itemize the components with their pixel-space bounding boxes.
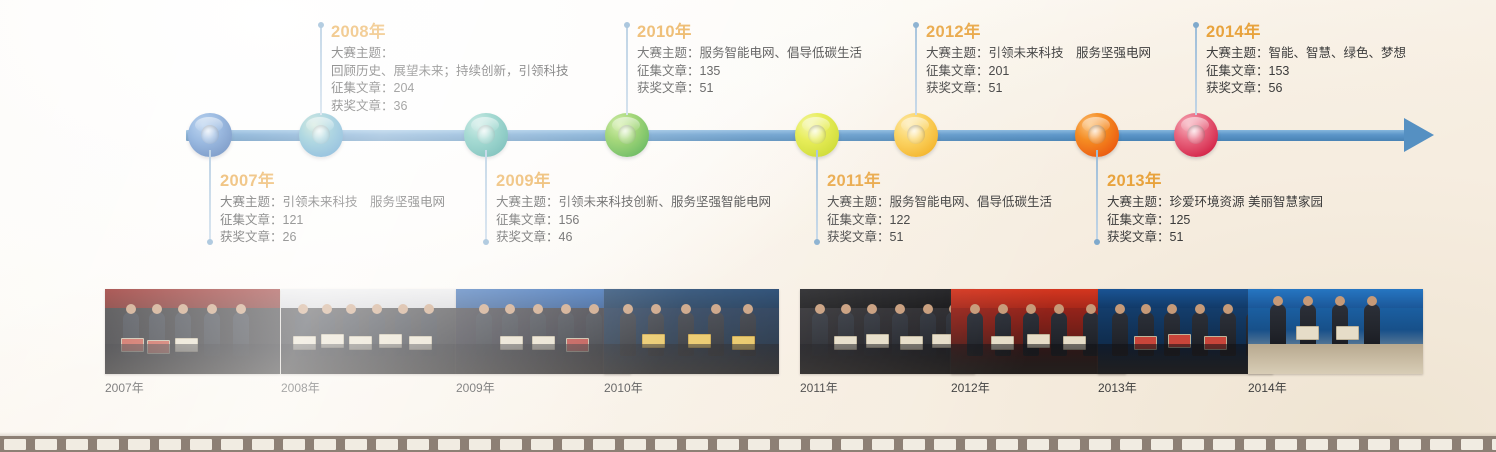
filmstrip-hole: [221, 439, 243, 450]
filmstrip-hole: [1430, 439, 1452, 450]
photo-banner: [1098, 289, 1273, 308]
filmstrip-hole: [779, 439, 801, 450]
entry-year: 2007年: [220, 171, 445, 192]
filmstrip-hole: [841, 439, 863, 450]
gallery-caption-2013: 2013年: [1098, 379, 1137, 396]
gallery-caption-2010: 2010年: [604, 379, 643, 396]
photo-floor: [604, 344, 779, 374]
entry-submissions: 征集文章：121: [220, 212, 445, 230]
entry-year: 2013年: [1107, 171, 1323, 192]
entry-theme: 大赛主题：服务智能电网、倡导低碳生活: [637, 45, 862, 63]
connector-dot: [1193, 22, 1199, 28]
gallery-caption-2008: 2008年: [281, 379, 320, 396]
filmstrip-hole: [252, 439, 274, 450]
filmstrip-hole: [1120, 439, 1142, 450]
filmstrip-hole: [1368, 439, 1390, 450]
entry-year: 2009年: [496, 171, 771, 192]
entry-awards: 获奖文章：46: [496, 229, 771, 247]
filmstrip-hole: [128, 439, 150, 450]
gallery-photo-2011[interactable]: [800, 289, 975, 374]
connector-2011: [816, 150, 818, 242]
photo-person: [1270, 304, 1286, 348]
photo-scene: [105, 289, 280, 374]
photo-floor: [281, 344, 456, 374]
gallery-photo-2008[interactable]: [281, 289, 456, 374]
connector-dot: [483, 239, 489, 245]
filmstrip-hole: [438, 439, 460, 450]
photo-scene: [800, 289, 975, 374]
connector-dot: [913, 22, 919, 28]
filmstrip-hole: [655, 439, 677, 450]
timeline-node-2012[interactable]: [894, 113, 938, 157]
filmstrip-hole: [469, 439, 491, 450]
filmstrip-hole: [1089, 439, 1111, 450]
filmstrip-hole: [1306, 439, 1328, 450]
photo-floor: [1098, 344, 1273, 374]
connector-dot: [318, 22, 324, 28]
entry-awards: 获奖文章：51: [637, 80, 862, 98]
filmstrip-hole: [1399, 439, 1421, 450]
timeline-entry-2014: 2014年 大赛主题：智能、智慧、绿色、梦想 征集文章：153 获奖文章：56: [1206, 22, 1406, 98]
filmstrip-hole: [748, 439, 770, 450]
timeline-entry-2013: 2013年 大赛主题：珍爱环境资源 美丽智慧家园 征集文章：125 获奖文章：5…: [1107, 171, 1323, 247]
entry-theme: 大赛主题：引领未来科技 服务坚强电网: [926, 45, 1151, 63]
filmstrip-hole: [345, 439, 367, 450]
entry-submissions: 征集文章：201: [926, 63, 1151, 81]
filmstrip-hole: [66, 439, 88, 450]
photo-certificate: [1336, 326, 1359, 340]
node-hole: [808, 125, 826, 144]
photo-floor: [105, 344, 280, 374]
entry-year: 2012年: [926, 22, 1151, 43]
entry-year: 2008年: [331, 22, 569, 43]
entry-submissions: 征集文章：156: [496, 212, 771, 230]
photo-floor: [800, 344, 975, 374]
entry-theme: 大赛主题：智能、智慧、绿色、梦想: [1206, 45, 1406, 63]
filmstrip-hole: [283, 439, 305, 450]
gallery-photo-2013[interactable]: [1098, 289, 1273, 374]
filmstrip-hole: [686, 439, 708, 450]
filmstrip-hole: [1337, 439, 1359, 450]
entry-awards: 获奖文章：36: [331, 98, 569, 116]
entry-theme-text: 回顾历史、展望未来；持续创新，引领科技: [331, 63, 569, 81]
entry-year: 2011年: [827, 171, 1052, 192]
filmstrip-hole: [872, 439, 894, 450]
timeline-entry-2012: 2012年 大赛主题：引领未来科技 服务坚强电网 征集文章：201 获奖文章：5…: [926, 22, 1151, 98]
filmstrip-hole: [1182, 439, 1204, 450]
connector-dot: [624, 22, 630, 28]
filmstrip-hole: [717, 439, 739, 450]
connector-2014: [1195, 25, 1197, 115]
gallery-caption-2009: 2009年: [456, 379, 495, 396]
filmstrip-hole: [593, 439, 615, 450]
photo-banner: [800, 289, 975, 308]
connector-2010: [626, 25, 628, 115]
entry-theme: 大赛主题：引领未来科技 服务坚强电网: [220, 194, 445, 212]
filmstrip-hole: [996, 439, 1018, 450]
entry-submissions: 征集文章：122: [827, 212, 1052, 230]
filmstrip-hole: [1461, 439, 1483, 450]
node-hole: [1187, 125, 1205, 144]
filmstrip-hole: [810, 439, 832, 450]
timeline-entry-2007: 2007年 大赛主题：引领未来科技 服务坚强电网 征集文章：121 获奖文章：2…: [220, 171, 445, 247]
entry-submissions: 征集文章：125: [1107, 212, 1323, 230]
entry-awards: 获奖文章：51: [1107, 229, 1323, 247]
timeline-node-2010[interactable]: [605, 113, 649, 157]
filmstrip-hole: [562, 439, 584, 450]
connector-dot: [1094, 239, 1100, 245]
connector-2012: [915, 25, 917, 115]
gallery-photo-2010[interactable]: [604, 289, 779, 374]
entry-submissions: 征集文章：204: [331, 80, 569, 98]
filmstrip-hole: [1244, 439, 1266, 450]
photo-floor: [1248, 344, 1423, 374]
filmstrip-hole: [1213, 439, 1235, 450]
filmstrip-hole: [4, 439, 26, 450]
connector-2007: [209, 150, 211, 242]
timeline-entry-2008: 2008年 大赛主题： 回顾历史、展望未来；持续创新，引领科技 征集文章：204…: [331, 22, 569, 115]
filmstrip-hole: [1027, 439, 1049, 450]
gallery-photo-2007[interactable]: [105, 289, 280, 374]
filmstrip-hole: [500, 439, 522, 450]
filmstrip-hole: [934, 439, 956, 450]
gallery-caption-2012: 2012年: [951, 379, 990, 396]
entry-theme: 大赛主题：引领未来科技创新、服务坚强智能电网: [496, 194, 771, 212]
filmstrip-hole: [903, 439, 925, 450]
timeline-infographic: 2008年 大赛主题： 回顾历史、展望未来；持续创新，引领科技 征集文章：204…: [0, 0, 1496, 452]
filmstrip-hole: [624, 439, 646, 450]
node-hole: [618, 125, 636, 144]
entry-awards: 获奖文章：26: [220, 229, 445, 247]
entry-theme: 大赛主题：珍爱环境资源 美丽智慧家园: [1107, 194, 1323, 212]
node-hole: [201, 125, 219, 144]
filmstrip-hole: [407, 439, 429, 450]
connector-2013: [1096, 150, 1098, 242]
filmstrip-hole: [190, 439, 212, 450]
timeline-node-2008[interactable]: [299, 113, 343, 157]
node-hole: [312, 125, 330, 144]
connector-2008: [320, 25, 322, 115]
timeline-arrow-icon: [1404, 118, 1434, 152]
filmstrip-hole: [1492, 439, 1496, 450]
entry-awards: 获奖文章：51: [926, 80, 1151, 98]
entry-theme: 大赛主题：服务智能电网、倡导低碳生活: [827, 194, 1052, 212]
gallery-caption-2011: 2011年: [800, 379, 838, 396]
photo-scene: [1248, 289, 1423, 374]
photo-scene: [281, 289, 456, 374]
entry-submissions: 征集文章：153: [1206, 63, 1406, 81]
filmstrip-hole: [376, 439, 398, 450]
node-hole: [1088, 125, 1106, 144]
filmstrip-hole: [314, 439, 336, 450]
filmstrip-holes: [0, 436, 1496, 452]
filmstrip-hole: [965, 439, 987, 450]
filmstrip-hole: [1058, 439, 1080, 450]
timeline-entry-2011: 2011年 大赛主题：服务智能电网、倡导低碳生活 征集文章：122 获奖文章：5…: [827, 171, 1052, 247]
photo-person: [1364, 304, 1380, 348]
connector-dot: [814, 239, 820, 245]
photo-certificate: [1296, 326, 1319, 340]
node-hole: [477, 125, 495, 144]
entry-awards: 获奖文章：51: [827, 229, 1052, 247]
filmstrip-hole: [35, 439, 57, 450]
connector-dot: [207, 239, 213, 245]
entry-year: 2014年: [1206, 22, 1406, 43]
node-hole: [907, 125, 925, 144]
photo-scene: [604, 289, 779, 374]
filmstrip-hole: [97, 439, 119, 450]
entry-submissions: 征集文章：135: [637, 63, 862, 81]
connector-2009: [485, 150, 487, 242]
gallery-caption-2007: 2007年: [105, 379, 144, 396]
entry-awards: 获奖文章：56: [1206, 80, 1406, 98]
gallery-caption-2014: 2014年: [1248, 379, 1287, 396]
entry-theme-label: 大赛主题：: [331, 45, 569, 63]
photo-scene: [1098, 289, 1273, 374]
gallery-photo-2014[interactable]: [1248, 289, 1423, 374]
filmstrip-hole: [159, 439, 181, 450]
filmstrip-hole: [1151, 439, 1173, 450]
entry-year: 2010年: [637, 22, 862, 43]
timeline-node-2014[interactable]: [1174, 113, 1218, 157]
timeline-entry-2010: 2010年 大赛主题：服务智能电网、倡导低碳生活 征集文章：135 获奖文章：5…: [637, 22, 862, 98]
timeline-entry-2009: 2009年 大赛主题：引领未来科技创新、服务坚强智能电网 征集文章：156 获奖…: [496, 171, 771, 247]
filmstrip-hole: [1275, 439, 1297, 450]
filmstrip-border: [0, 436, 1496, 452]
filmstrip-hole: [531, 439, 553, 450]
